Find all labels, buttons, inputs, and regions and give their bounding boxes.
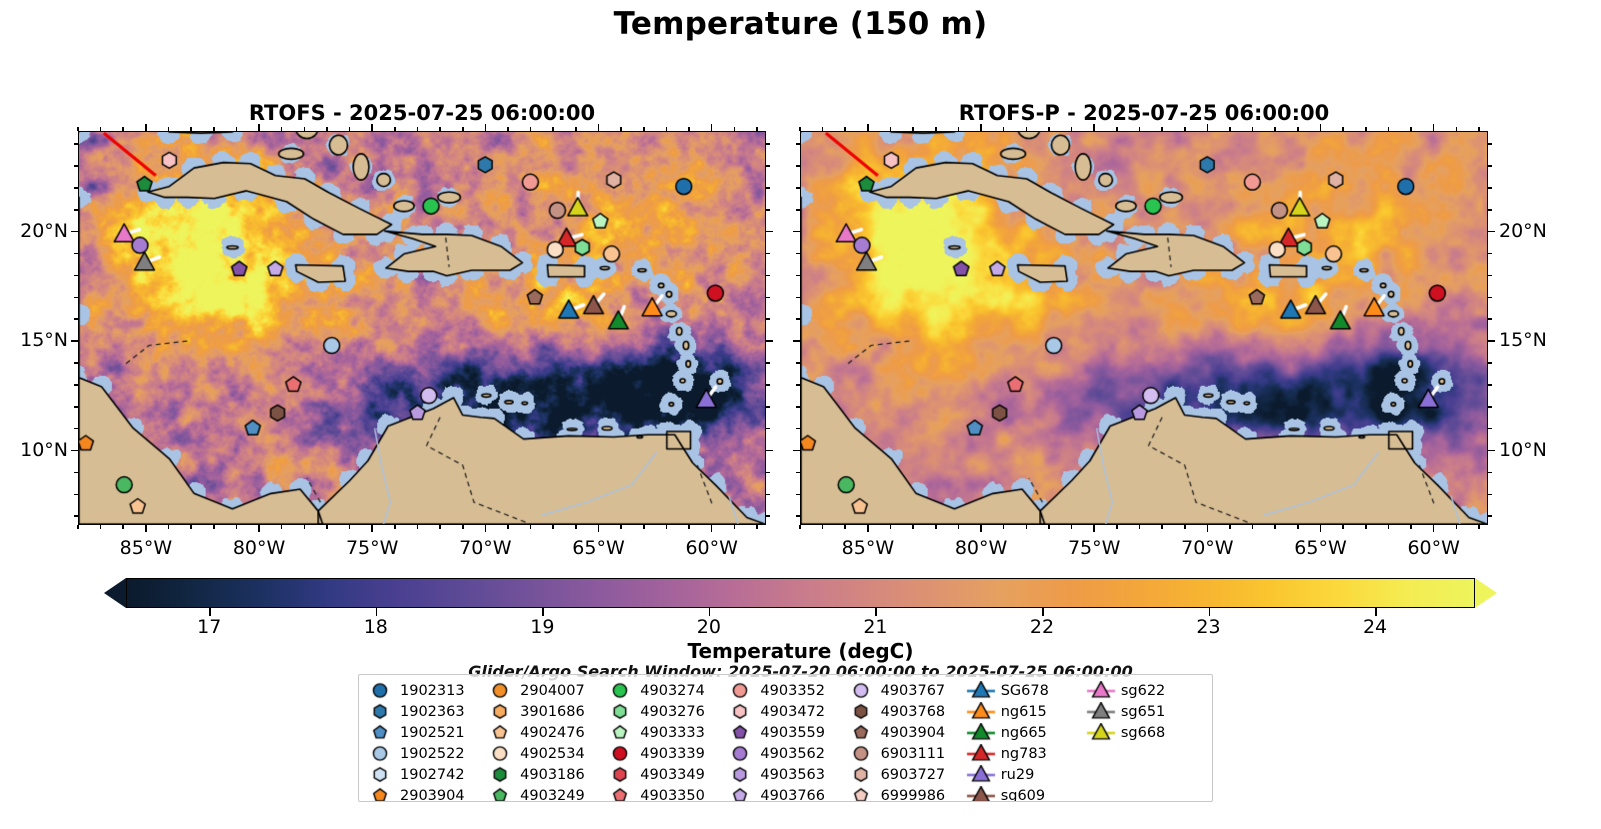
x-tick-top [1320,124,1322,131]
y-tick [74,384,78,386]
x-tick [822,525,824,529]
legend-box[interactable]: 1902313190236319025211902522190274229039… [358,674,1213,802]
legend-item[interactable]: 4903339 [605,743,725,764]
y-tick-label-left: 20°N [0,220,68,242]
y-tick [74,297,78,299]
x-tick-label: 75°W [327,537,417,559]
legend-item[interactable]: 1902363 [365,701,485,722]
colorbar [104,578,1497,608]
legend-marker-triangle-icon [966,681,996,700]
y-tick [74,187,78,189]
x-tick-top [1410,127,1412,131]
x-tick [1456,525,1458,529]
legend-marker-pentagon-icon [365,723,395,742]
colorbar-tick [1209,608,1211,616]
y-tick-right [1488,143,1492,145]
legend-label: ng783 [1001,746,1047,762]
y-tick [796,187,800,189]
y-tick-right [766,209,770,211]
y-tick [74,428,78,430]
x-tick-top [507,127,509,131]
legend-marker-circle-icon [725,744,755,763]
colorbar-tick [1042,608,1044,616]
y-tick-right [1488,209,1492,211]
legend-label: 4903276 [640,704,705,720]
x-tick-top [439,127,441,131]
legend-item[interactable]: sg668 [1086,722,1206,743]
legend-marker-pentagon-icon [605,786,635,802]
legend-marker-hexagon-icon [365,765,395,784]
colorbar-tick-label: 18 [336,616,416,638]
y-tick [71,231,78,233]
temperature-field-rtofs [79,132,765,524]
y-tick [796,428,800,430]
y-tick-right [766,187,770,189]
x-tick-top [1456,127,1458,131]
x-tick [77,525,79,529]
x-tick [958,525,960,529]
x-tick-top [1161,127,1163,131]
y-tick-right [766,384,770,386]
y-tick [793,340,800,342]
legend-label: 4903562 [760,746,825,762]
x-tick [1093,525,1095,532]
x-tick-top [394,127,396,131]
y-tick-right [766,143,770,145]
x-tick-top [145,124,147,131]
legend-label: 4903472 [760,704,825,720]
figure-title: Temperature (150 m) [0,6,1601,42]
legend-item[interactable]: 4903562 [725,743,845,764]
x-tick [1365,525,1367,529]
x-tick [1207,525,1209,532]
x-tick-top [1229,127,1231,131]
legend-marker-circle-icon [485,744,515,763]
legend-label: 4903249 [520,788,585,803]
y-tick-right [766,275,770,277]
legend-item[interactable]: 6903111 [846,743,966,764]
panel-title-rtofs: RTOFS - 2025-07-25 06:00:00 [78,101,766,125]
legend-item[interactable]: 2904007 [485,680,605,701]
legend-label: sg651 [1121,704,1165,720]
x-tick [980,525,982,532]
x-tick-top [1478,127,1480,131]
legend-marker-pentagon-icon [485,723,515,742]
legend-item[interactable]: 4903276 [605,701,725,722]
y-tick [74,515,78,517]
legend-item[interactable]: 4902476 [485,722,605,743]
legend-item[interactable]: 4903768 [846,701,966,722]
x-tick [1161,525,1163,529]
legend-item[interactable]: 6903727 [846,764,966,785]
legend-item[interactable]: SG678 [966,680,1086,701]
legend-label: 6903111 [881,746,946,762]
x-tick-top [1365,127,1367,131]
x-tick [462,525,464,529]
x-tick [439,525,441,529]
x-tick-top [236,127,238,131]
y-tick-right [766,297,770,299]
x-tick-top [734,127,736,131]
colorbar-tick-label: 21 [835,616,915,638]
y-tick-right [1488,384,1492,386]
legend-item[interactable]: 6999986 [846,785,966,802]
x-tick-top [1433,124,1435,131]
y-tick-right [766,494,770,496]
y-tick [796,494,800,496]
y-tick-right [766,472,770,474]
legend-marker-circle-icon [365,681,395,700]
x-tick-top [326,127,328,131]
legend-item[interactable]: 1902522 [365,743,485,764]
legend-marker-circle-icon [605,681,635,700]
x-tick [844,525,846,529]
legend-marker-pentagon-icon [605,723,635,742]
y-tick-right [766,428,770,430]
colorbar-tick [1375,608,1377,616]
legend-item[interactable]: ng665 [966,722,1086,743]
y-tick-right [766,231,773,233]
x-tick-top [666,127,668,131]
legend-marker-pentagon-icon [485,786,515,802]
legend-grid: 1902313190236319025211902522190274229039… [359,675,1212,802]
legend-label: 4903563 [760,767,825,783]
legend-label: 4903768 [881,704,946,720]
legend-item[interactable]: sg651 [1086,701,1206,722]
y-tick [74,143,78,145]
x-tick [281,525,283,529]
legend-marker-hexagon-icon [846,765,876,784]
y-tick-right [1488,450,1495,452]
x-tick [258,525,260,532]
x-tick-top [575,127,577,131]
x-tick [190,525,192,529]
x-tick-label: 80°W [214,537,304,559]
y-tick [796,515,800,517]
colorbar-tick [709,608,711,616]
legend-label: 4902534 [520,746,585,762]
legend-label: sg668 [1121,725,1165,741]
y-tick-label-right: 10°N [1499,439,1575,461]
y-tick [74,406,78,408]
x-tick-top [1184,127,1186,131]
x-tick-label: 85°W [823,537,913,559]
x-tick-top [77,127,79,131]
x-tick-top [462,127,464,131]
x-tick-top [1116,127,1118,131]
x-tick [394,525,396,529]
y-tick [796,406,800,408]
y-tick [796,362,800,364]
x-tick-top [1297,127,1299,131]
x-tick [507,525,509,529]
x-tick-top [935,127,937,131]
legend-item[interactable]: 1902521 [365,722,485,743]
legend-item[interactable]: 4903559 [725,722,845,743]
y-tick-right [766,450,773,452]
legend-label: 4902476 [520,725,585,741]
legend-marker-circle-icon [365,744,395,763]
x-tick-top [1026,127,1028,131]
x-tick-label: 60°W [1389,537,1479,559]
x-tick-top [643,127,645,131]
x-tick [711,525,713,532]
legend-label: 6903727 [881,767,946,783]
legend-item[interactable]: sg609 [966,785,1086,802]
legend-item[interactable]: 1902313 [365,680,485,701]
legend-item[interactable]: 4903333 [605,722,725,743]
colorbar-tick-label: 23 [1169,616,1249,638]
legend-marker-hexagon-icon [365,702,395,721]
x-tick-top [100,127,102,131]
y-tick [74,165,78,167]
map-panel-rtofs[interactable] [78,131,766,525]
y-tick [796,253,800,255]
y-tick [71,450,78,452]
x-tick [598,525,600,532]
x-tick-top [1139,127,1141,131]
x-tick-label: 60°W [667,537,757,559]
legend-item[interactable]: 4903350 [605,785,725,802]
y-tick-right [1488,231,1495,233]
legend-marker-triangle-icon [966,744,996,763]
legend-marker-hexagon-icon [485,702,515,721]
legend-marker-hexagon-icon [605,702,635,721]
y-tick-right [766,165,770,167]
panel-title-rtofs-p: RTOFS-P - 2025-07-25 06:00:00 [800,101,1488,125]
x-tick [485,525,487,532]
x-tick [168,525,170,529]
x-tick-top [168,127,170,131]
colorbar-under-arrow [104,578,126,608]
legend-label: 4903350 [640,788,705,803]
x-tick [1274,525,1276,529]
legend-item[interactable]: sg622 [1086,680,1206,701]
x-tick-top [349,127,351,131]
map-panel-rtofs-p[interactable] [800,131,1488,525]
x-tick-top [485,124,487,131]
x-tick [890,525,892,529]
x-tick [1342,525,1344,529]
x-tick [756,525,758,529]
x-tick-top [756,127,758,131]
legend-item[interactable]: 4903186 [485,764,605,785]
y-tick [796,384,800,386]
legend-label: 1902522 [400,746,465,762]
legend-item[interactable]: 4903767 [846,680,966,701]
x-tick-label: 65°W [1276,537,1366,559]
legend-marker-triangle-icon [1086,723,1116,742]
x-tick [1433,525,1435,532]
legend-marker-triangle-icon [1086,681,1116,700]
legend-label: 4903339 [640,746,705,762]
x-tick-top [822,127,824,131]
legend-label: 4903333 [640,725,705,741]
colorbar-tick [542,608,544,616]
y-tick [74,253,78,255]
legend-label: 1902521 [400,725,465,741]
legend-item[interactable]: 4903274 [605,680,725,701]
x-tick [688,525,690,529]
x-tick [213,525,215,529]
legend-item[interactable]: 1902742 [365,764,485,785]
colorbar-tick-label: 24 [1335,616,1415,638]
y-tick-right [766,406,770,408]
x-tick [575,525,577,529]
x-tick-top [213,127,215,131]
legend-marker-triangle-icon [966,786,996,802]
legend-label: 1902313 [400,683,465,699]
x-tick [912,525,914,529]
x-tick [1003,525,1005,529]
y-tick [74,209,78,211]
colorbar-tick-label: 22 [1002,616,1082,638]
legend-marker-triangle-icon [966,702,996,721]
y-tick-right [1488,406,1492,408]
legend-label: 1902363 [400,704,465,720]
y-tick-label-right: 20°N [1499,220,1575,242]
y-tick [74,362,78,364]
x-tick [1252,525,1254,529]
x-tick [1229,525,1231,529]
legend-marker-pentagon-icon [846,786,876,802]
legend-marker-circle-icon [605,744,635,763]
y-tick [796,318,800,320]
y-tick-right [1488,428,1492,430]
legend-label: 1902742 [400,767,465,783]
y-tick-right [1488,494,1492,496]
legend-item[interactable]: ru29 [966,764,1086,785]
x-tick-top [598,124,600,131]
x-tick-top [890,127,892,131]
legend-marker-pentagon-icon [725,786,755,802]
colorbar-label: Temperature (degC) [0,639,1601,663]
y-tick [74,494,78,496]
x-tick [734,525,736,529]
legend-marker-pentagon-icon [365,786,395,802]
legend-label: 4903352 [760,683,825,699]
x-tick-label: 70°W [1162,537,1252,559]
x-tick [1478,525,1480,529]
colorbar-tick-label: 19 [502,616,582,638]
legend-item[interactable]: 4902534 [485,743,605,764]
x-tick [1388,525,1390,529]
x-tick [1026,525,1028,529]
colorbar-tick [875,608,877,616]
legend-marker-circle-icon [846,744,876,763]
x-tick [867,525,869,532]
y-tick-right [1488,362,1492,364]
x-tick-top [552,127,554,131]
colorbar-tick [376,608,378,616]
legend-item[interactable]: ng615 [966,701,1086,722]
colorbar-tick-label: 20 [669,616,749,638]
y-tick [74,275,78,277]
legend-label: 4903559 [760,725,825,741]
x-tick-top [1342,127,1344,131]
x-tick [1048,525,1050,529]
legend-label: 4903767 [881,683,946,699]
legend-item[interactable]: 4903349 [605,764,725,785]
x-tick [530,525,532,529]
y-tick [74,318,78,320]
y-tick-right [1488,472,1492,474]
y-tick [796,143,800,145]
y-tick [796,165,800,167]
legend-item[interactable]: 4903904 [846,722,966,743]
x-tick-top [912,127,914,131]
legend-label: 4903349 [640,767,705,783]
y-tick-right [766,340,773,342]
x-tick-top [1252,127,1254,131]
y-tick-right [766,515,770,517]
y-tick [796,297,800,299]
legend-marker-pentagon-icon [846,723,876,742]
x-tick-top [688,127,690,131]
legend-item[interactable]: 4903352 [725,680,845,701]
legend-label: 3901686 [520,704,585,720]
legend-label: ng615 [1001,704,1047,720]
x-tick-top [1003,127,1005,131]
colorbar-over-arrow [1475,578,1497,608]
y-tick [796,209,800,211]
colorbar-gradient [126,578,1475,608]
legend-marker-triangle-icon [966,765,996,784]
x-tick [1116,525,1118,529]
x-tick-top [122,127,124,131]
x-tick [620,525,622,529]
y-tick-label-left: 15°N [0,329,68,351]
legend-marker-pentagon-icon [725,723,755,742]
x-tick-top [867,124,869,131]
legend-label: sg622 [1121,683,1165,699]
legend-label: SG678 [1001,683,1049,699]
x-tick-label: 85°W [101,537,191,559]
legend-item[interactable]: 3901686 [485,701,605,722]
x-tick [417,525,419,529]
legend-label: ng665 [1001,725,1047,741]
y-tick-right [766,318,770,320]
x-tick [935,525,937,529]
y-tick-right [1488,515,1492,517]
y-tick-right [1488,253,1492,255]
x-tick-top [258,124,260,131]
x-tick-label: 75°W [1049,537,1139,559]
x-tick-top [958,127,960,131]
x-tick [236,525,238,529]
legend-item[interactable]: 4903249 [485,785,605,802]
x-tick [371,525,373,532]
legend-item[interactable]: 4903766 [725,785,845,802]
x-tick [1184,525,1186,529]
x-tick [145,525,147,532]
x-tick [1410,525,1412,529]
y-tick [796,275,800,277]
y-tick-right [1488,297,1492,299]
x-tick-top [304,127,306,131]
legend-item[interactable]: 4903563 [725,764,845,785]
y-tick-right [1488,187,1492,189]
legend-label: 6999986 [881,788,946,803]
legend-item[interactable]: ng783 [966,743,1086,764]
y-tick-right [1488,318,1492,320]
x-tick-top [190,127,192,131]
legend-item[interactable]: 2903904 [365,785,485,802]
legend-marker-hexagon-icon [725,765,755,784]
legend-item[interactable]: 4903472 [725,701,845,722]
x-tick [304,525,306,529]
legend-label: 4903274 [640,683,705,699]
